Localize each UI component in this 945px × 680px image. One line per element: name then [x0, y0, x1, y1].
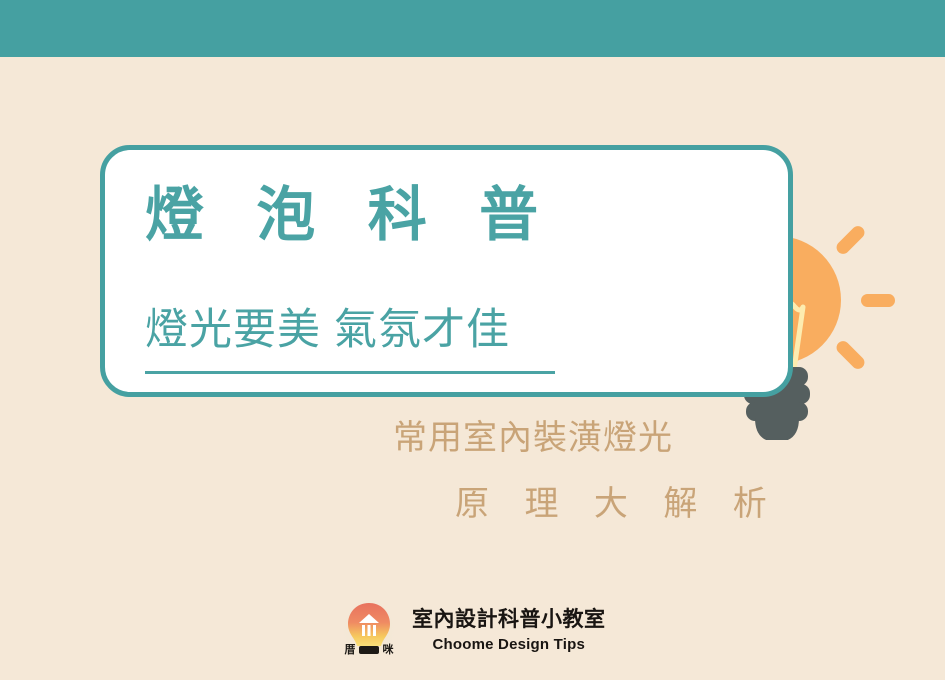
page-subtitle: 燈光要美 氣氛才佳 [145, 309, 510, 352]
logo-text-left: 厝 [345, 643, 356, 656]
brand-lockup: 厝 咪 室內設計科普小教室 Choome Design Tips [340, 596, 606, 664]
subtitle-underline [145, 371, 555, 374]
brand-text-block: 室內設計科普小教室 Choome Design Tips [412, 609, 606, 652]
logo-bulb-base [359, 646, 379, 654]
logo-text-right: 咪 [383, 642, 395, 656]
caption-line-2: 原 理 大 解 析 [455, 487, 780, 521]
top-teal-band [0, 0, 945, 57]
logo-bulb-shape [348, 603, 390, 646]
page-title: 燈 泡 科 普 [145, 186, 556, 245]
caption-line-1: 常用室內裝潢燈光 [393, 421, 673, 455]
logo-house-pillars [362, 625, 376, 636]
brand-name-en: Choome Design Tips [432, 637, 585, 652]
brand-name-cn: 室內設計科普小教室 [412, 609, 606, 630]
brand-logo-icon: 厝 咪 [340, 596, 398, 664]
poster-canvas: 燈 泡 科 普 燈光要美 氣氛才佳 常用室內裝潢燈光 原 理 大 解 析 [0, 0, 945, 680]
